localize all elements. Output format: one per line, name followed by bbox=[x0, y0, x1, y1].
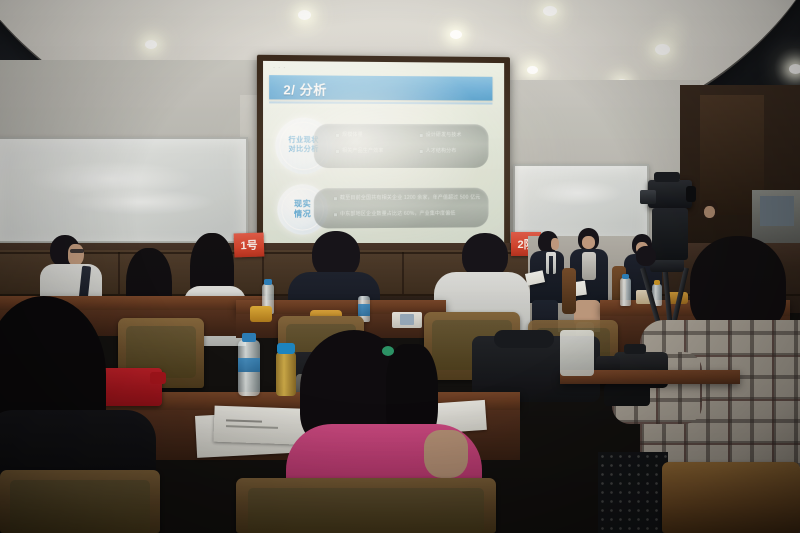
bullet-text: 人才结构分布 bbox=[426, 148, 457, 155]
chair-foreground-left bbox=[0, 470, 160, 533]
slide-bullet: 截至目前全国共有相关企业 1200 余家，年产值超过 500 亿元 bbox=[334, 195, 481, 203]
bullet-text: 中东部地区企业数量占比达 60%，产业集中度偏低 bbox=[340, 211, 455, 219]
red-handbag-flap bbox=[150, 372, 166, 384]
tripod-column bbox=[652, 208, 688, 260]
panel-seam bbox=[118, 252, 120, 294]
judge-2-face bbox=[582, 236, 595, 249]
projection-screen: · · · 2/ 分析 行业现状 对比分析 规模体量 相关产品生产效率 bbox=[263, 61, 504, 251]
bullet-text: 设计研发与技术 bbox=[426, 132, 462, 140]
chair-cushion bbox=[10, 480, 150, 533]
slide-bullet: 设计研发与技术 bbox=[420, 132, 462, 140]
backpack-strap bbox=[494, 330, 554, 348]
whiteboard-left bbox=[0, 137, 248, 247]
poster-right bbox=[760, 196, 794, 226]
bottle-cap bbox=[622, 274, 629, 279]
slide-bullet: 人才结构分布 bbox=[420, 148, 457, 155]
bullet-marker-icon bbox=[334, 213, 337, 216]
judge-1-tie bbox=[549, 256, 553, 274]
slide-title-underline bbox=[269, 101, 492, 104]
bottle-label bbox=[238, 358, 260, 372]
conference-room-photo: · · · 2/ 分析 行业现状 对比分析 规模体量 相关产品生产效率 bbox=[0, 0, 800, 533]
photographer-head bbox=[690, 236, 786, 332]
ceiling-light-6 bbox=[527, 66, 538, 74]
judge-1-face bbox=[551, 238, 559, 250]
chair-foreground-right bbox=[662, 462, 800, 533]
projection-screen-frame: · · · 2/ 分析 行业现状 对比分析 规模体量 相关产品生产效率 bbox=[257, 55, 510, 257]
water-bottle bbox=[620, 278, 631, 306]
slide-block-2-bar: 截至目前全国共有相关企业 1200 余家，年产值超过 500 亿元 中东部地区企… bbox=[314, 188, 489, 229]
panel-chair bbox=[562, 268, 576, 314]
camera-strap bbox=[604, 384, 650, 406]
downlight-halo bbox=[650, 10, 694, 48]
camcorder-lens bbox=[686, 186, 696, 202]
attendee-woman-pink-shoulder bbox=[424, 430, 468, 478]
slide-bullet: 相关产品生产效率 bbox=[336, 148, 384, 156]
placard-team-1: 1号 bbox=[234, 232, 265, 257]
whiteboard-smudge bbox=[533, 180, 623, 206]
glasses-icon bbox=[70, 249, 84, 253]
chair-foreground-center bbox=[236, 478, 496, 533]
bullet-text: 截至目前全国共有相关企业 1200 余家，年产值超过 500 亿元 bbox=[340, 195, 480, 203]
hair-clip bbox=[382, 346, 394, 356]
attendee-right-head bbox=[636, 246, 656, 266]
bottle-cap bbox=[654, 280, 660, 285]
ceiling-light-4 bbox=[450, 30, 462, 39]
judge-2-blouse bbox=[582, 252, 596, 280]
person-doorway-face bbox=[704, 206, 715, 218]
water-bottle-front bbox=[238, 340, 260, 396]
placard-label: 1号 bbox=[240, 237, 258, 254]
ceiling-light-8 bbox=[789, 64, 800, 74]
slide-block-1-bar: 规模体量 相关产品生产效率 设计研发与技术 人才结构分布 bbox=[314, 124, 489, 168]
dslr-hotshoe bbox=[624, 344, 646, 354]
bullet-marker-icon bbox=[420, 134, 423, 137]
slide-bullet: 中东部地区企业数量占比达 60%，产业集中度偏低 bbox=[334, 210, 481, 218]
ceiling-light-2 bbox=[298, 10, 311, 20]
snack-item bbox=[250, 306, 272, 322]
tea-bottle-front bbox=[276, 352, 296, 396]
bullet-marker-icon bbox=[334, 197, 337, 200]
whiteboard-smudge bbox=[66, 189, 216, 215]
panel-seam bbox=[402, 252, 404, 294]
bottle-cap bbox=[264, 279, 272, 285]
mesh-chair-back bbox=[598, 452, 668, 533]
slide-bullet: 规模体量 bbox=[336, 132, 363, 140]
name-card bbox=[400, 314, 414, 325]
slide-title-banner: 2/ 分析 bbox=[269, 75, 492, 100]
slide-title: 2/ 分析 bbox=[283, 79, 326, 98]
camcorder-viewfinder bbox=[640, 190, 656, 204]
attendee-man-glasses-face bbox=[68, 244, 84, 266]
bottle-cap bbox=[277, 343, 295, 354]
white-bag-right bbox=[560, 330, 594, 376]
bullet-text: 规模体量 bbox=[342, 132, 363, 140]
bullet-marker-icon bbox=[420, 150, 423, 153]
camcorder-mic bbox=[654, 172, 680, 182]
chair-cushion bbox=[248, 488, 484, 533]
bullet-marker-icon bbox=[336, 150, 339, 153]
bullet-text: 相关产品生产效率 bbox=[342, 148, 384, 156]
bottle-label bbox=[358, 304, 370, 316]
bottle-cap bbox=[242, 333, 256, 342]
slide-top-note: · · · bbox=[273, 65, 286, 71]
bullet-marker-icon bbox=[336, 134, 339, 137]
ceiling-light-3 bbox=[543, 6, 557, 16]
ceiling-light-1 bbox=[145, 40, 157, 49]
